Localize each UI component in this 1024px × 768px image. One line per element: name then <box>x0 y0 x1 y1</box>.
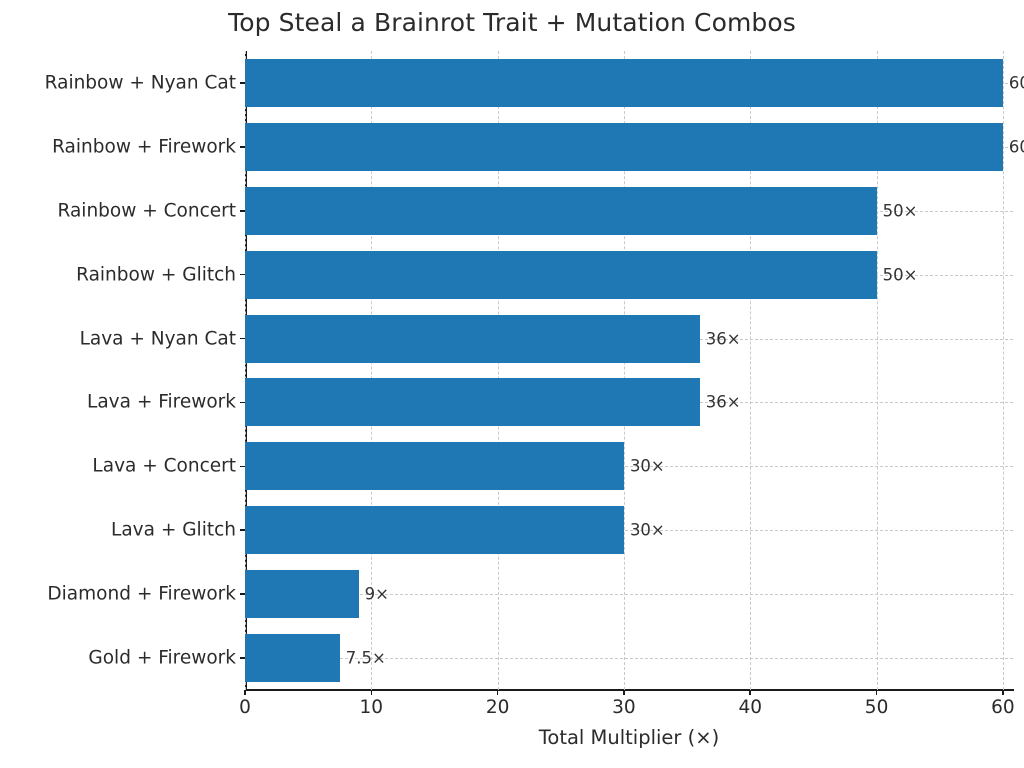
y-tick-label: Lava + Glitch <box>111 520 236 541</box>
x-tick-label: 60 <box>991 697 1015 718</box>
bar <box>245 634 340 682</box>
plot-area <box>245 51 1013 690</box>
bar-value-label: 60× <box>1009 73 1024 92</box>
y-tick-mark <box>240 402 245 404</box>
y-tick-label: Lava + Concert <box>92 456 236 477</box>
x-tick-mark <box>623 690 625 695</box>
x-tick-label: 10 <box>360 697 384 718</box>
y-tick-label: Diamond + Firework <box>47 584 236 605</box>
bar-value-label: 30× <box>630 521 665 540</box>
x-axis-label: Total Multiplier (×) <box>245 726 1013 749</box>
y-tick-label: Rainbow + Glitch <box>76 264 236 285</box>
bar <box>245 442 624 490</box>
bar <box>245 123 1003 171</box>
y-tick-mark <box>240 82 245 84</box>
bar <box>245 506 624 554</box>
y-tick-mark <box>240 274 245 276</box>
x-tick-mark <box>244 690 246 695</box>
bar-value-label: 36× <box>706 329 741 348</box>
y-tick-mark <box>240 593 245 595</box>
bar <box>245 378 700 426</box>
bar <box>245 187 877 235</box>
bar-value-label: 50× <box>883 265 918 284</box>
x-tick-mark <box>1002 690 1004 695</box>
x-tick-mark <box>371 690 373 695</box>
gridline-horizontal <box>245 594 1013 595</box>
y-tick-mark <box>240 210 245 212</box>
y-tick-mark <box>240 466 245 468</box>
x-tick-mark <box>876 690 878 695</box>
chart-title: Top Steal a Brainrot Trait + Mutation Co… <box>0 8 1024 37</box>
y-tick-label: Rainbow + Concert <box>58 200 236 221</box>
y-tick-mark <box>240 146 245 148</box>
y-tick-mark <box>240 657 245 659</box>
y-tick-label: Rainbow + Firework <box>52 136 236 157</box>
bar-value-label: 60× <box>1009 137 1024 156</box>
bar <box>245 315 700 363</box>
y-tick-label: Gold + Firework <box>88 648 236 669</box>
y-tick-mark <box>240 529 245 531</box>
bar-value-label: 30× <box>630 457 665 476</box>
x-tick-label: 30 <box>612 697 636 718</box>
bar <box>245 570 359 618</box>
x-tick-label: 20 <box>486 697 510 718</box>
y-tick-label: Rainbow + Nyan Cat <box>45 72 236 93</box>
x-tick-mark <box>749 690 751 695</box>
bar <box>245 59 1003 107</box>
y-tick-mark <box>240 338 245 340</box>
bar-value-label: 36× <box>706 393 741 412</box>
y-tick-label: Lava + Firework <box>87 392 236 413</box>
chart-figure: Top Steal a Brainrot Trait + Mutation Co… <box>0 0 1024 768</box>
x-tick-label: 0 <box>239 697 251 718</box>
x-tick-label: 50 <box>865 697 889 718</box>
bar-value-label: 9× <box>365 585 389 604</box>
y-tick-label: Lava + Nyan Cat <box>80 328 236 349</box>
bar <box>245 251 877 299</box>
x-tick-label: 40 <box>738 697 762 718</box>
bar-value-label: 50× <box>883 201 918 220</box>
bar-value-label: 7.5× <box>346 649 386 668</box>
x-tick-mark <box>497 690 499 695</box>
